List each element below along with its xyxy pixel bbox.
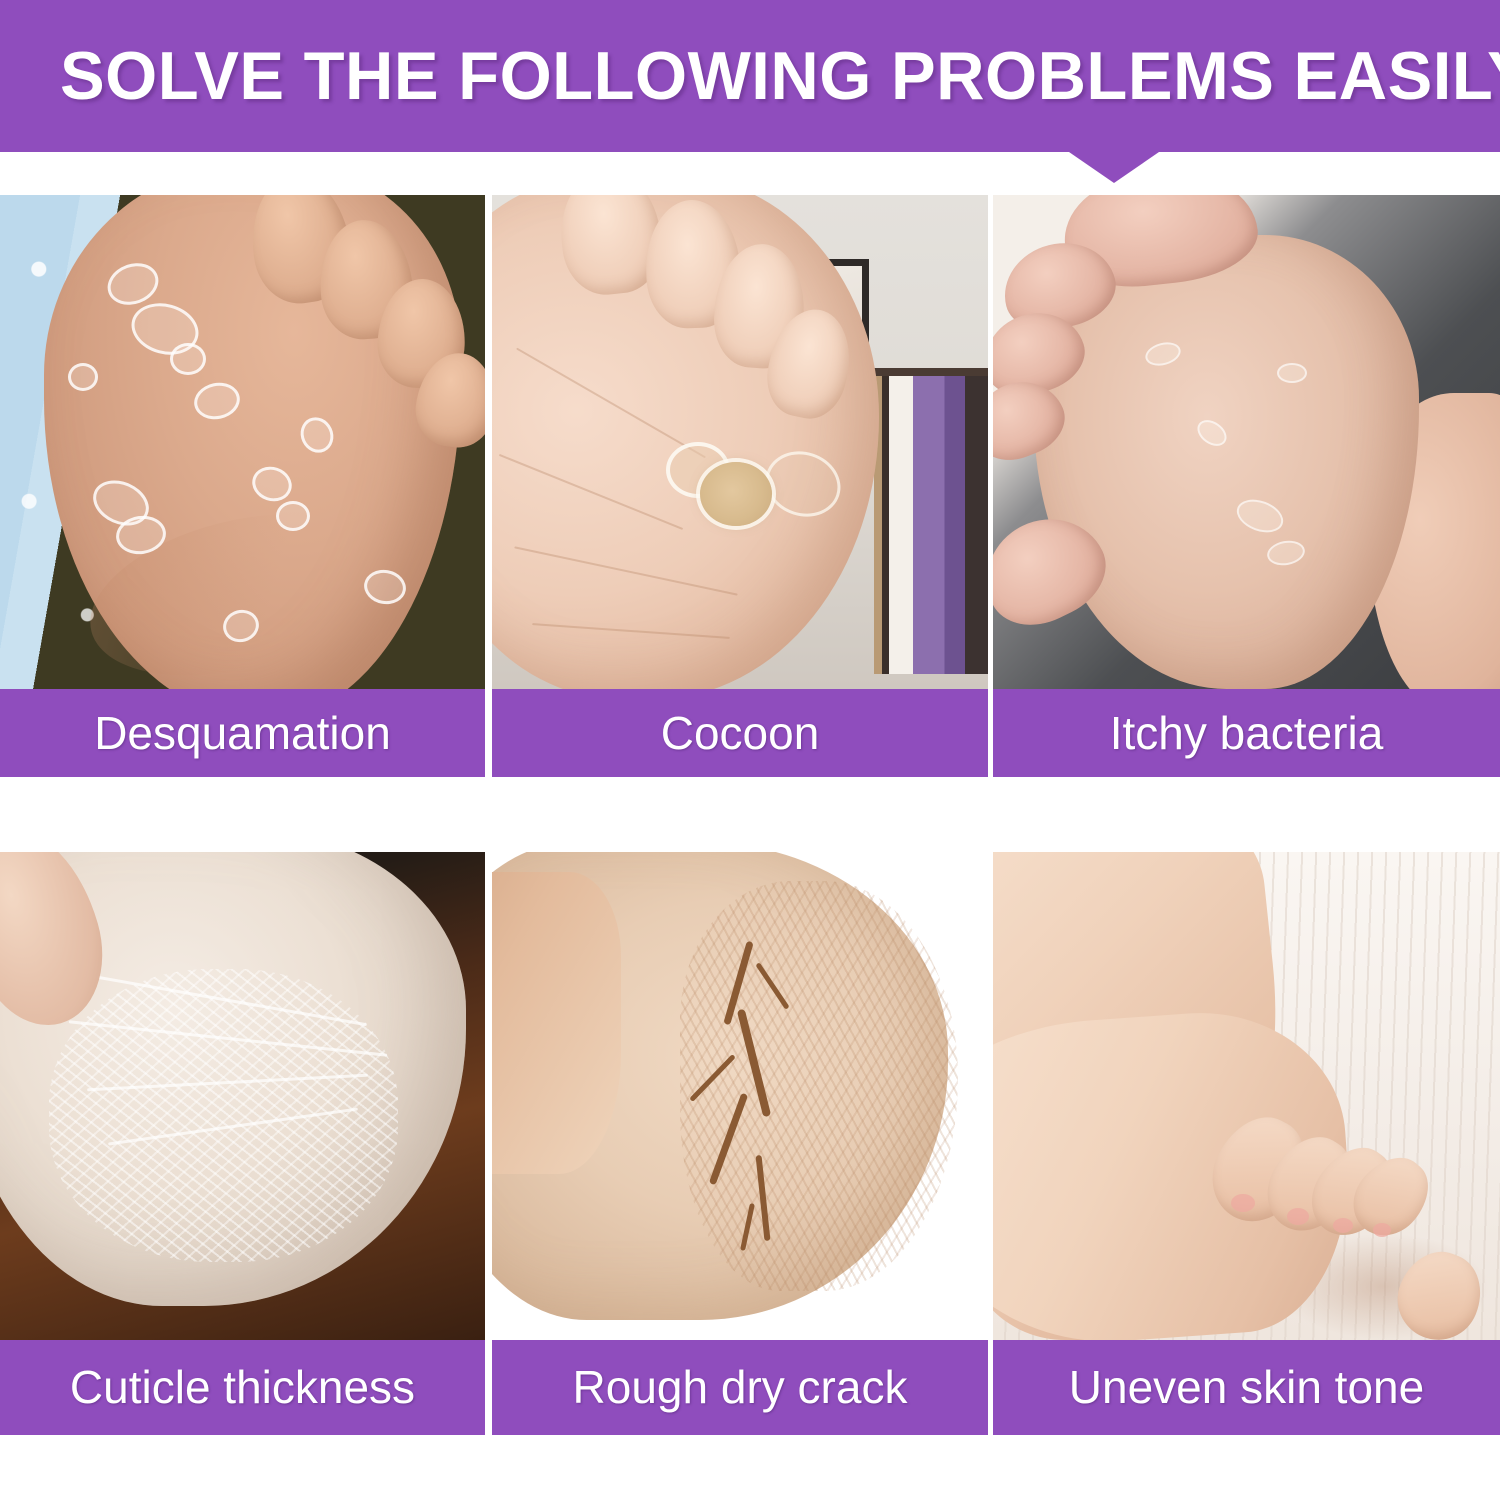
problem-card-itchy-bacteria[interactable]: Itchy bacteria [993, 195, 1500, 777]
header-pointer-triangle-icon [1069, 152, 1159, 183]
problem-caption-itchy-bacteria: Itchy bacteria [993, 689, 1500, 777]
problem-photo-itchy-bacteria [993, 195, 1500, 689]
problem-photo-rough-dry-crack [492, 852, 988, 1340]
problem-caption-uneven-skin-tone: Uneven skin tone [993, 1340, 1500, 1435]
problems-row-top: Desquamation [0, 195, 1500, 777]
flaky-skin-mark [1277, 363, 1307, 383]
header-banner: SOLVE THE FOLLOWING PROBLEMS EASILY [0, 0, 1500, 152]
problem-photo-uneven-skin-tone [993, 852, 1500, 1340]
thick-dry-skin-texture [49, 969, 398, 1262]
rough-skin-texture [680, 881, 958, 1291]
problem-card-desquamation[interactable]: Desquamation [0, 195, 485, 777]
callus-core-mark [700, 462, 772, 526]
problem-photo-cocoon [492, 195, 988, 689]
product-infographic: SOLVE THE FOLLOWING PROBLEMS EASILY [0, 0, 1500, 1500]
ankle-shape [492, 872, 621, 1175]
problem-photo-cuticle-thickness [0, 852, 485, 1340]
problem-caption-rough-dry-crack: Rough dry crack [492, 1340, 988, 1435]
page-title: SOLVE THE FOLLOWING PROBLEMS EASILY [60, 26, 1434, 126]
toenail-shape [1333, 1218, 1353, 1233]
toenail-shape [1373, 1223, 1391, 1237]
problem-photo-desquamation [0, 195, 485, 689]
skin-flake-mark [68, 363, 98, 391]
problem-card-cocoon[interactable]: Cocoon [492, 195, 988, 777]
problem-caption-cocoon: Cocoon [492, 689, 988, 777]
problems-grid: Desquamation [0, 195, 1500, 1435]
toenail-shape [1231, 1194, 1255, 1212]
problem-card-cuticle-thickness[interactable]: Cuticle thickness [0, 852, 485, 1435]
skin-flake-mark [170, 343, 206, 375]
problem-caption-desquamation: Desquamation [0, 689, 485, 777]
doorway-curtain-background [874, 368, 988, 674]
problems-row-bottom: Cuticle thickness Rough dry crack [0, 852, 1500, 1435]
problem-caption-cuticle-thickness: Cuticle thickness [0, 1340, 485, 1435]
problem-card-uneven-skin-tone[interactable]: Uneven skin tone [993, 852, 1500, 1435]
problem-card-rough-dry-crack[interactable]: Rough dry crack [492, 852, 988, 1435]
